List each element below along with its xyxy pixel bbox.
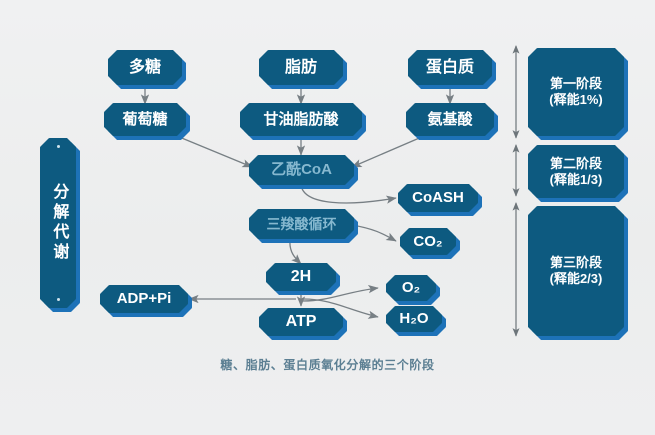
wire-glucose-acetylcoa [172,134,252,167]
wire-tca-2h [290,240,301,264]
node-fat[interactable]: 脂肪 [259,50,343,85]
node-fat-label: 脂肪 [259,50,343,85]
wire-aminoacid-acetylcoa [352,136,424,167]
stage-2-detail: (释能1/3) [550,172,603,188]
figure-caption: 糖、脂肪、蛋白质氧化分解的三个阶段 [0,356,655,373]
stage-box-2-content: 第二阶段 (释能1/3) [528,145,624,198]
stage-2-title: 第二阶段 [550,156,602,172]
node-tca-cycle-label: 三羧酸循环 [249,209,354,239]
stage-box-1-content: 第一阶段 (释能1%) [528,48,624,136]
banner-box: 分解代谢 [40,138,76,308]
node-acetyl-coa[interactable]: 乙酰CoA [249,155,354,185]
diagram-canvas: 分解代谢 多糖 脂肪 蛋白质 葡萄糖 甘油脂肪酸 氨基酸 乙酰CoA 三羧酸循环 [0,0,655,435]
node-protein-label: 蛋白质 [408,50,492,85]
node-co2-label: CO₂ [400,228,456,255]
catabolism-banner: 分解代谢 [40,138,76,308]
node-2h-label: 2H [266,263,336,291]
stage-3-title: 第三阶段 [550,255,602,271]
node-adp-pi-label: ADP+Pi [100,285,188,313]
node-adp-pi[interactable]: ADP+Pi [100,285,188,313]
stage-3-detail: (释能2/3) [550,271,603,287]
node-glucose-label: 葡萄糖 [104,103,186,136]
node-co2[interactable]: CO₂ [400,228,456,255]
node-amino-acid-label: 氨基酸 [406,103,494,136]
node-h2o[interactable]: H₂O [386,306,442,332]
node-acetyl-coa-label: 乙酰CoA [249,155,354,185]
stage-1-detail: (释能1%) [549,92,602,108]
banner-label: 分解代谢 [50,183,67,263]
node-tca-cycle[interactable]: 三羧酸循环 [249,209,354,239]
node-coash-label: CoASH [398,184,478,212]
banner-dot-top [57,145,60,148]
wire-tca-co2 [352,225,396,241]
stage-box-3[interactable]: 第三阶段 (释能2/3) [528,206,624,336]
node-atp-label: ATP [259,308,343,336]
stage-box-3-content: 第三阶段 (释能2/3) [528,206,624,336]
node-amino-acid[interactable]: 氨基酸 [406,103,494,136]
node-glycerol-fatty-acid[interactable]: 甘油脂肪酸 [240,103,362,136]
node-glycerol-fatty-acid-label: 甘油脂肪酸 [240,103,362,136]
stage-box-1[interactable]: 第一阶段 (释能1%) [528,48,624,136]
node-2h[interactable]: 2H [266,263,336,291]
stage-box-2[interactable]: 第二阶段 (释能1/3) [528,145,624,198]
node-glucose[interactable]: 葡萄糖 [104,103,186,136]
node-h2o-label: H₂O [386,306,442,332]
node-o2-label: O₂ [386,275,436,301]
node-polysaccharide-label: 多糖 [108,50,182,85]
node-polysaccharide[interactable]: 多糖 [108,50,182,85]
node-coash[interactable]: CoASH [398,184,478,212]
node-protein[interactable]: 蛋白质 [408,50,492,85]
node-atp[interactable]: ATP [259,308,343,336]
stage-1-title: 第一阶段 [550,76,602,92]
node-o2[interactable]: O₂ [386,275,436,301]
banner-dot-bottom [57,298,60,301]
